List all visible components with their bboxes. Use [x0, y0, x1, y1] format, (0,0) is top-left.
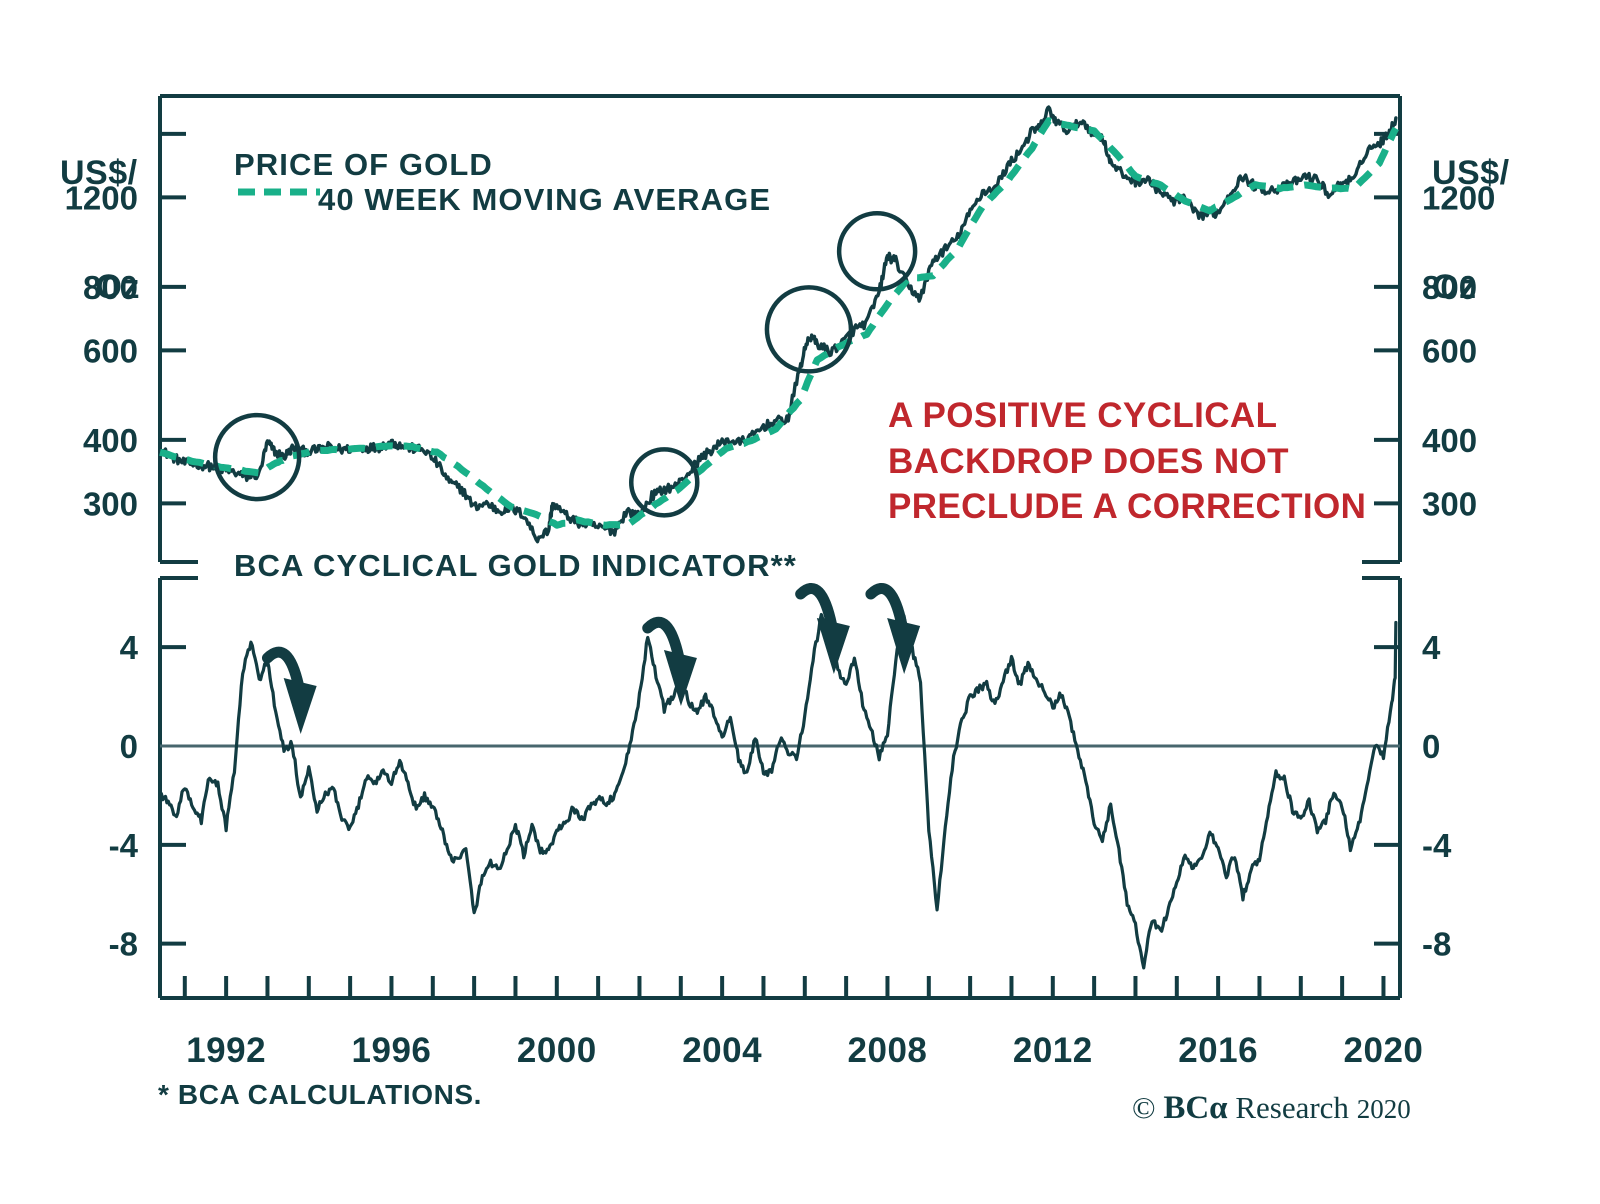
bottom-ytick-label-left--4: -4	[109, 827, 139, 864]
top-ytick-label-right-1200: 1200	[1422, 179, 1495, 216]
series-price-of-gold	[160, 107, 1396, 542]
xtick-label-2000: 2000	[517, 1031, 597, 1070]
top-ytick-label-left-1200: 1200	[65, 179, 138, 216]
circle-annotation-4	[839, 213, 915, 289]
top-ytick-label-left-400: 400	[83, 422, 138, 459]
bottom-ytick-label-left-0: 0	[120, 728, 138, 765]
curved-arrow-annotation-2	[648, 622, 697, 706]
top-ytick-label-right-300: 300	[1422, 485, 1477, 522]
xtick-label-1992: 1992	[186, 1031, 266, 1070]
circle-annotation-3	[767, 287, 851, 371]
curved-arrow-annotation-1	[267, 652, 316, 734]
chart-plot-svg: 120012008008006006004004003003004400-4-4…	[0, 0, 1600, 1204]
top-ytick-label-left-300: 300	[83, 485, 138, 522]
top-ytick-label-left-600: 600	[83, 332, 138, 369]
bottom-ytick-label-right-0: 0	[1422, 728, 1440, 765]
xtick-label-2012: 2012	[1013, 1031, 1093, 1070]
xtick-label-2016: 2016	[1178, 1031, 1258, 1070]
xtick-label-1996: 1996	[352, 1031, 432, 1070]
bottom-ytick-label-right--4: -4	[1422, 827, 1452, 864]
bottom-ytick-label-right--8: -8	[1422, 926, 1451, 963]
top-ytick-label-right-400: 400	[1422, 422, 1477, 459]
chart-root: US$/ Oz US$/ Oz PRICE OF GOLD 40 WEEK MO…	[0, 0, 1600, 1204]
bottom-ytick-label-left--8: -8	[109, 926, 138, 963]
bottom-ytick-label-left-4: 4	[120, 629, 139, 666]
curved-arrow-annotation-3	[801, 588, 850, 674]
xtick-label-2004: 2004	[682, 1031, 762, 1070]
bottom-ytick-label-right-4: 4	[1422, 629, 1441, 666]
top-ytick-label-right-800: 800	[1422, 269, 1477, 306]
xtick-label-2008: 2008	[848, 1031, 928, 1070]
series-40-week-moving-average	[160, 121, 1396, 526]
series-bca-cyclical-gold-indicator	[160, 615, 1396, 968]
xtick-label-2020: 2020	[1344, 1031, 1424, 1070]
top-ytick-label-right-600: 600	[1422, 332, 1477, 369]
top-ytick-label-left-800: 800	[83, 269, 138, 306]
